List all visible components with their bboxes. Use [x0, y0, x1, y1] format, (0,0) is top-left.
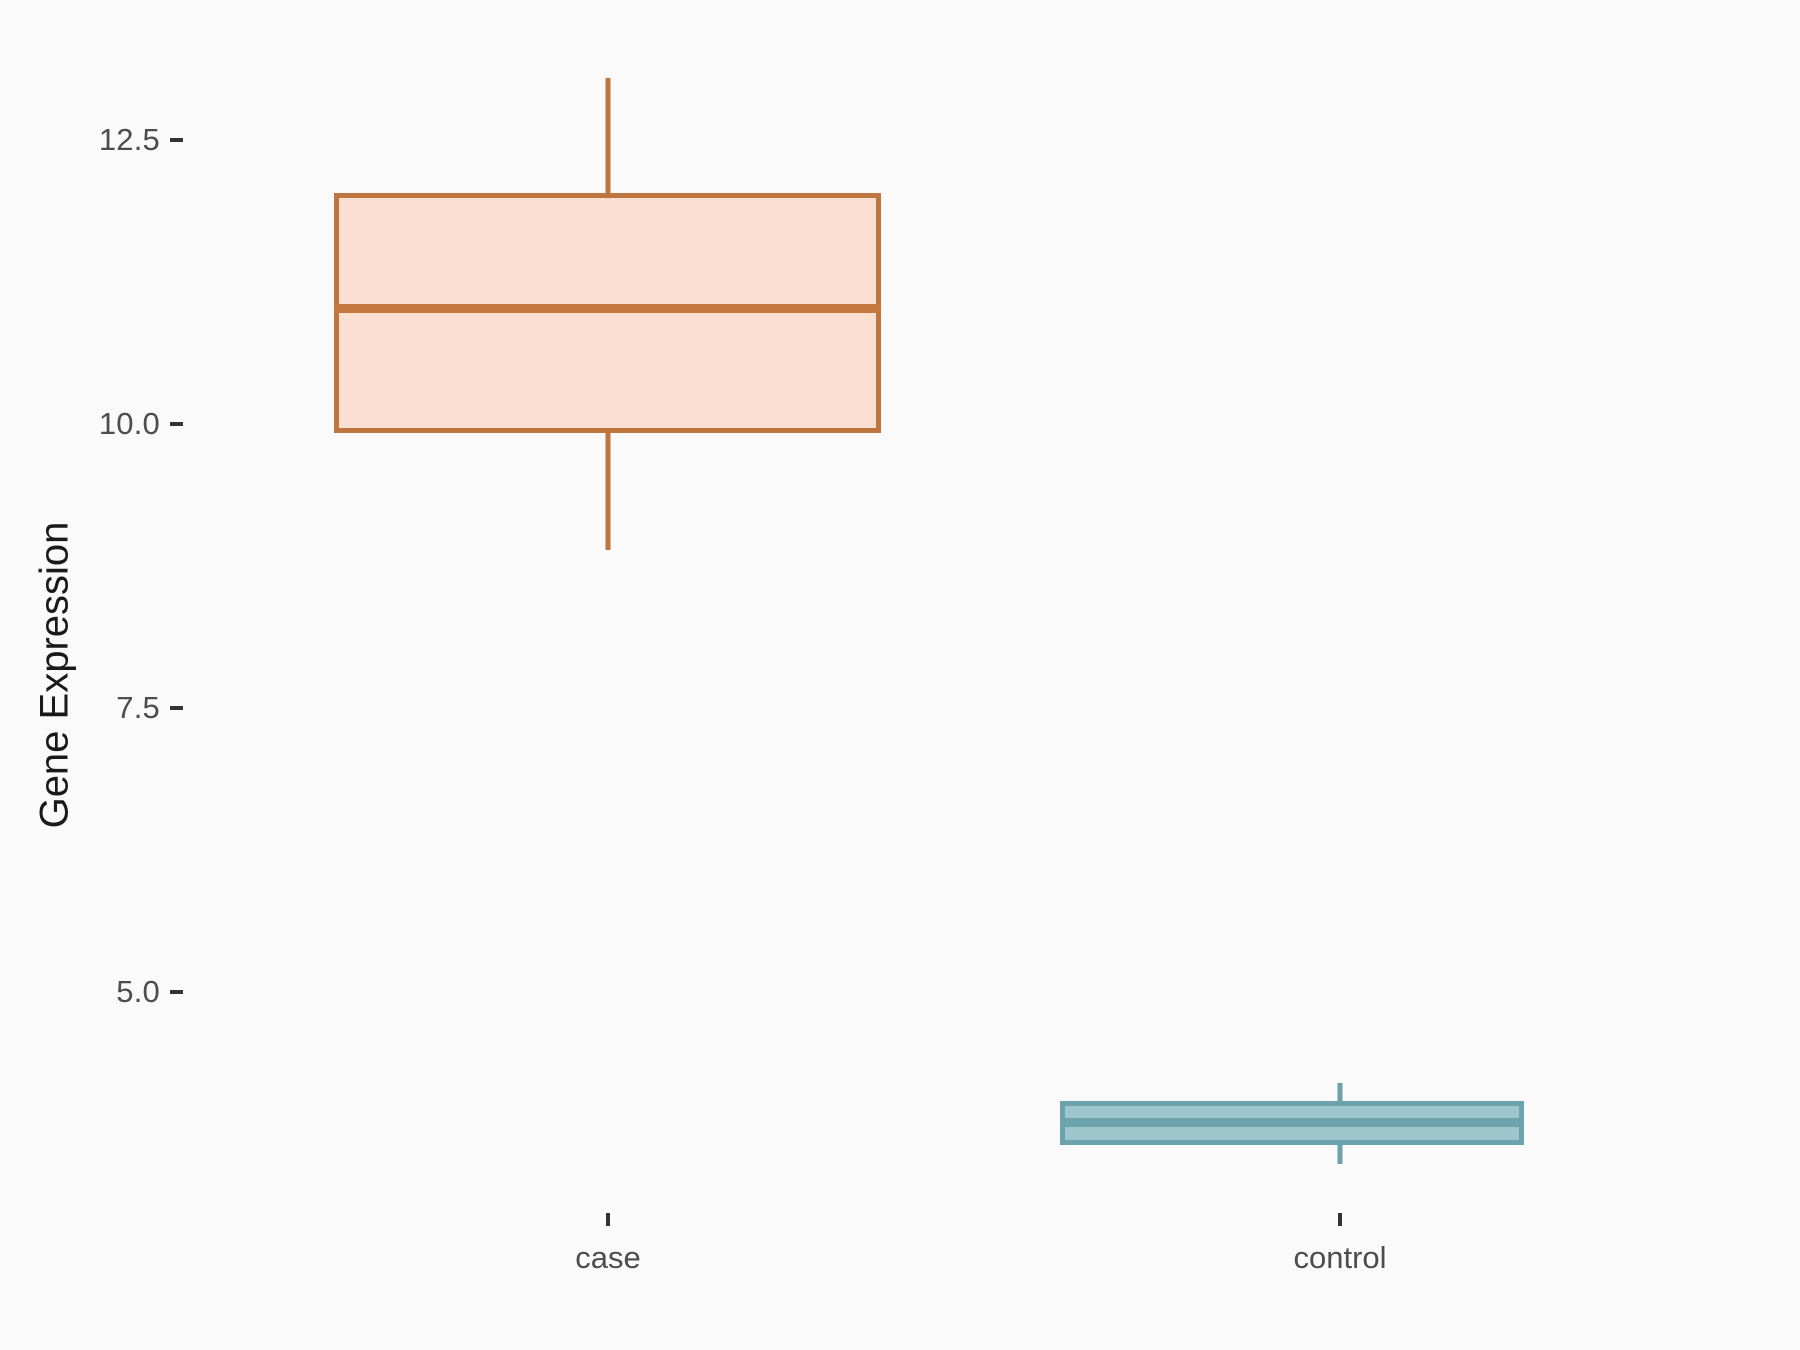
boxplot-chart: Gene Expression 12.5 10.0 7.5 5.0 case c… — [0, 0, 1800, 1350]
y-tick-mark-5.0 — [170, 990, 183, 994]
whisker-lower-control — [1338, 1144, 1343, 1164]
x-tick-mark-case — [606, 1213, 610, 1226]
whisker-lower-case — [606, 433, 611, 550]
x-tick-label-case: case — [575, 1240, 640, 1276]
y-tick-label-5.0: 5.0 — [30, 974, 160, 1010]
box-case — [334, 193, 881, 433]
x-tick-label-control: control — [1293, 1240, 1386, 1276]
median-line-case — [334, 304, 881, 313]
y-tick-label-12.5: 12.5 — [30, 122, 160, 158]
whisker-upper-case — [606, 78, 611, 193]
y-axis-title: Gene Expression — [33, 415, 78, 935]
y-tick-mark-7.5 — [170, 706, 183, 710]
y-tick-label-10.0: 10.0 — [30, 406, 160, 442]
median-line-control — [1060, 1118, 1524, 1127]
x-tick-mark-control — [1338, 1213, 1342, 1226]
y-tick-label-7.5: 7.5 — [30, 690, 160, 726]
whisker-upper-control — [1338, 1083, 1343, 1102]
y-tick-mark-12.5 — [170, 138, 183, 142]
y-tick-mark-10.0 — [170, 422, 183, 426]
